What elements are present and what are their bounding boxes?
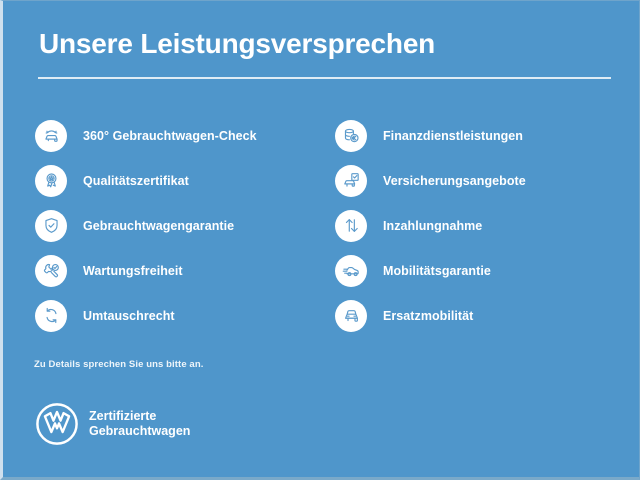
page-title: Unsere Leistungsversprechen [39,28,435,60]
list-item-label: Umtauschrecht [83,309,175,323]
list-item-label: 360° Gebrauchtwagen-Check [83,129,257,143]
brand-line-2: Gebrauchtwagen [89,424,190,439]
car-motion-icon [335,255,367,287]
list-item: Mobilitätsgarantie [335,248,635,293]
promises-column-right: Finanzdienstleistungen Versicherungsange… [335,113,635,338]
list-item: Qualitätszertifikat [35,158,335,203]
list-item: 360° Gebrauchtwagen-Check [35,113,335,158]
title-divider [38,77,611,79]
list-item: Umtauschrecht [35,293,335,338]
list-item: Wartungsfreiheit [35,248,335,293]
list-item-label: Gebrauchtwagengarantie [83,219,234,233]
list-item: Finanzdienstleistungen [335,113,635,158]
car-360-check-icon [35,120,67,152]
list-item: Ersatzmobilität [335,293,635,338]
brand-line-1: Zertifizierte [89,409,190,424]
wrench-check-icon [35,255,67,287]
promises-grid: 360° Gebrauchtwagen-Check Qualitätszerti… [3,113,640,338]
list-item: Gebrauchtwagengarantie [35,203,335,248]
volkswagen-logo-icon [35,402,79,446]
list-item-label: Mobilitätsgarantie [383,264,491,278]
contact-note: Zu Details sprechen Sie uns bitte an. [34,359,203,370]
shield-check-icon [35,210,67,242]
exchange-arrows-icon [35,300,67,332]
brand-lockup: Zertifizierte Gebrauchtwagen [35,402,190,446]
car-front-icon [335,300,367,332]
promises-column-left: 360° Gebrauchtwagen-Check Qualitätszerti… [35,113,335,338]
coins-euro-icon [335,120,367,152]
quality-rosette-icon [35,165,67,197]
list-item-label: Versicherungsangebote [383,174,526,188]
list-item: Inzahlungnahme [335,203,635,248]
list-item-label: Finanzdienstleistungen [383,129,523,143]
list-item-label: Inzahlungnahme [383,219,482,233]
list-item-label: Ersatzmobilität [383,309,473,323]
up-down-arrows-icon [335,210,367,242]
list-item-label: Qualitätszertifikat [83,174,189,188]
brand-text: Zertifizierte Gebrauchtwagen [89,409,190,439]
car-document-check-icon [335,165,367,197]
list-item: Versicherungsangebote [335,158,635,203]
promise-panel: Unsere Leistungsversprechen 360° Gebrauc… [0,0,640,480]
list-item-label: Wartungsfreiheit [83,264,183,278]
